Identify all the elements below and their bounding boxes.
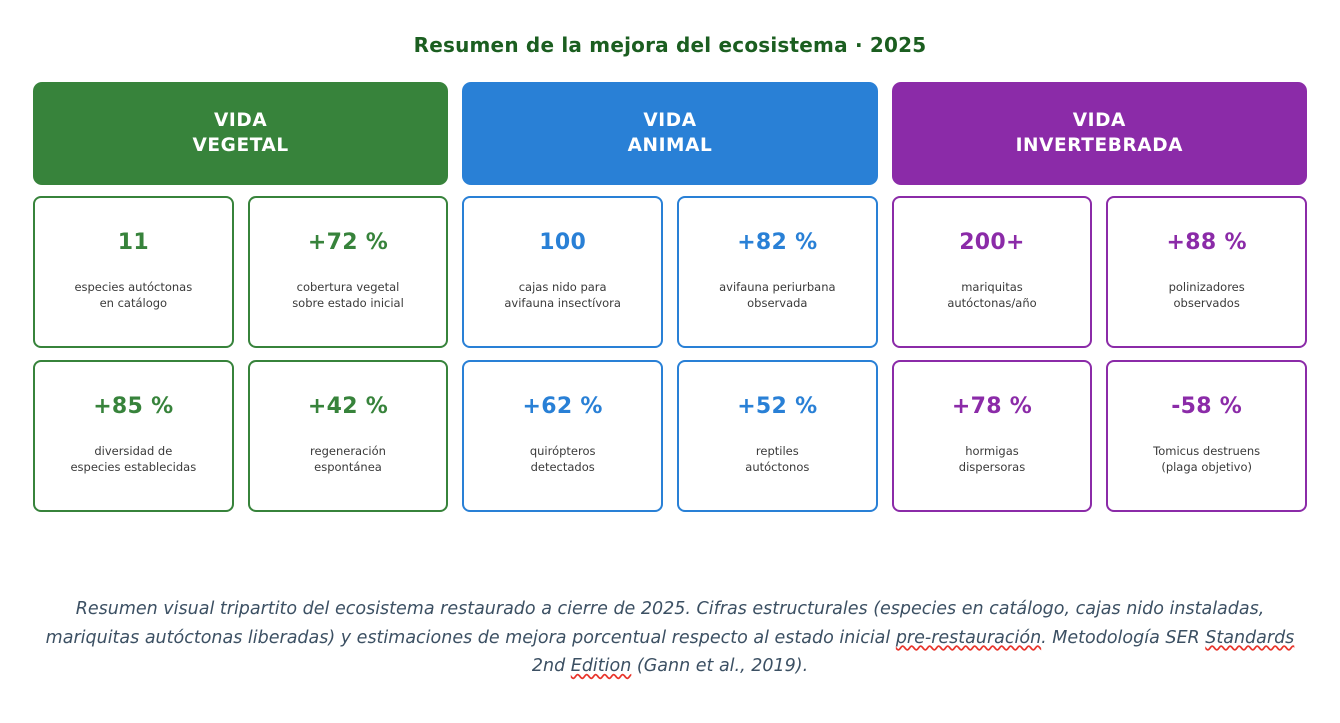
metric-label: especies autóctonas en catálogo <box>74 280 192 312</box>
columns-grid: VIDA VEGETAL 11 especies autóctonas en c… <box>33 82 1307 512</box>
metric-label: mariquitas autóctonas/año <box>947 280 1036 312</box>
column-header-animal-line2: ANIMAL <box>628 134 713 158</box>
metric-label: cajas nido para avifauna insectívora <box>504 280 621 312</box>
metric-card: 200+ mariquitas autóctonas/año <box>892 196 1093 348</box>
metric-label: polinizadores observados <box>1169 280 1245 312</box>
column-header-invertebrate-line2: INVERTEBRADA <box>1016 134 1184 158</box>
metric-card: +72 % cobertura vegetal sobre estado ini… <box>248 196 449 348</box>
column-header-invertebrate-line1: VIDA <box>1016 109 1184 133</box>
metric-card: +42 % regeneración espontánea <box>248 360 449 512</box>
metric-value: 200+ <box>959 232 1025 254</box>
column-header-invertebrate: VIDA INVERTEBRADA <box>892 82 1307 185</box>
metric-card: +82 % avifauna periurbana observada <box>677 196 878 348</box>
metric-label: Tomicus destruens (plaga objetivo) <box>1153 444 1260 476</box>
page-title: Resumen de la mejora del ecosistema · 20… <box>414 33 927 57</box>
metric-label: diversidad de especies establecidas <box>70 444 196 476</box>
metric-card: +85 % diversidad de especies establecida… <box>33 360 234 512</box>
caption-misspelled-word-2: Standards <box>1205 628 1294 648</box>
caption-text-part-2: . Metodología SER <box>1041 628 1205 648</box>
metric-value: +42 % <box>308 396 388 418</box>
metric-card: 100 cajas nido para avifauna insectívora <box>462 196 663 348</box>
cards-animal: 100 cajas nido para avifauna insectívora… <box>462 196 877 512</box>
metric-card: -58 % Tomicus destruens (plaga objetivo) <box>1106 360 1307 512</box>
metric-value: +72 % <box>308 232 388 254</box>
infographic-page: Resumen de la mejora del ecosistema · 20… <box>0 0 1340 723</box>
metric-card: +88 % polinizadores observados <box>1106 196 1307 348</box>
metric-value: +85 % <box>93 396 173 418</box>
figure-caption: Resumen visual tripartito del ecosistema… <box>33 595 1307 681</box>
column-invertebrate: VIDA INVERTEBRADA 200+ mariquitas autóct… <box>892 82 1307 512</box>
column-header-animal-line1: VIDA <box>628 109 713 133</box>
metric-label: avifauna periurbana observada <box>719 280 835 312</box>
caption-misspelled-word-3: Edition <box>571 656 632 676</box>
metric-value: -58 % <box>1171 396 1242 418</box>
metric-value: +82 % <box>737 232 817 254</box>
metric-card: +78 % hormigas dispersoras <box>892 360 1093 512</box>
caption-misspelled-word-1: pre-restauración <box>896 628 1041 648</box>
cards-plant: 11 especies autóctonas en catálogo +72 %… <box>33 196 448 512</box>
column-header-plant: VIDA VEGETAL <box>33 82 448 185</box>
metric-card: +52 % reptiles autóctonos <box>677 360 878 512</box>
metric-value: +62 % <box>523 396 603 418</box>
metric-value: +52 % <box>737 396 817 418</box>
metric-label: quirópteros detectados <box>530 444 596 476</box>
metric-label: hormigas dispersoras <box>959 444 1025 476</box>
caption-text-part-3: 2nd <box>532 656 571 676</box>
column-header-animal: VIDA ANIMAL <box>462 82 877 185</box>
metric-value: 100 <box>539 232 586 254</box>
metric-value: +88 % <box>1167 232 1247 254</box>
column-header-plant-line1: VIDA <box>193 109 289 133</box>
caption-text-part-4: (Gann et al., 2019). <box>631 656 808 676</box>
column-animal: VIDA ANIMAL 100 cajas nido para avifauna… <box>462 82 877 512</box>
metric-value: +78 % <box>952 396 1032 418</box>
metric-label: reptiles autóctonos <box>745 444 809 476</box>
metric-card: +62 % quirópteros detectados <box>462 360 663 512</box>
metric-label: regeneración espontánea <box>310 444 386 476</box>
cards-invertebrate: 200+ mariquitas autóctonas/año +88 % pol… <box>892 196 1307 512</box>
column-plant: VIDA VEGETAL 11 especies autóctonas en c… <box>33 82 448 512</box>
metric-value: 11 <box>118 232 149 254</box>
column-header-plant-line2: VEGETAL <box>193 134 289 158</box>
metric-label: cobertura vegetal sobre estado inicial <box>292 280 404 312</box>
metric-card: 11 especies autóctonas en catálogo <box>33 196 234 348</box>
